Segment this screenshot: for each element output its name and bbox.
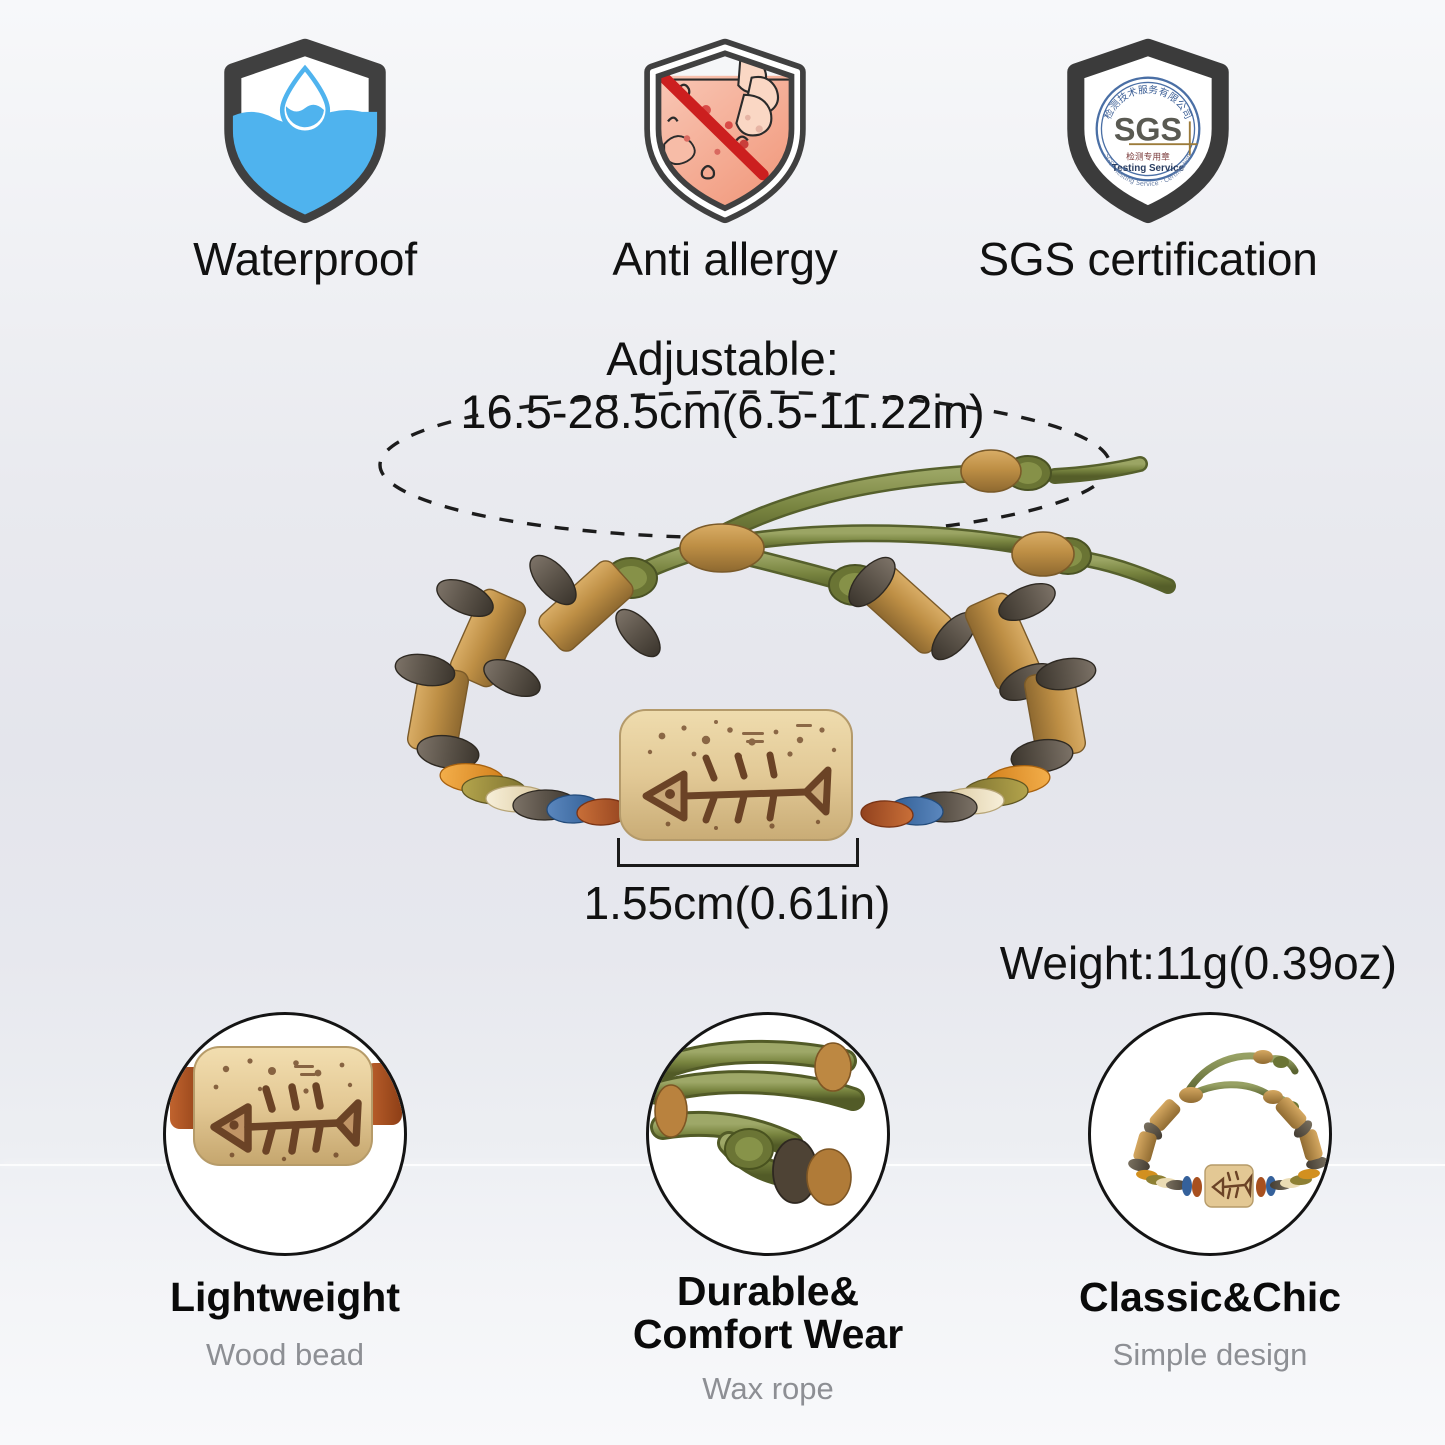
anti-allergy-shield-icon (630, 34, 820, 224)
feature-subtitle: Simple design (1000, 1337, 1420, 1373)
feature-subtitle: Wood bead (75, 1337, 495, 1373)
feature-subtitle: Wax rope (558, 1371, 978, 1407)
feature-lightweight: Lightweight Wood bead (75, 1012, 495, 1373)
badge-anti-allergy: Anti allergy (515, 34, 935, 286)
badge-label: Anti allergy (515, 232, 935, 286)
feature-image-wood-bead (163, 1012, 407, 1256)
badge-label: Waterproof (95, 232, 515, 286)
feature-title: Lightweight (75, 1276, 495, 1319)
feature-classic-chic: Classic&Chic Simple design (1000, 1012, 1420, 1373)
weight-label: Weight:11g(0.39oz) (1000, 936, 1397, 990)
adjustable-label: Adjustable: (0, 333, 1445, 386)
feature-row: Lightweight Wood bead (0, 1012, 1445, 1445)
slider-beads (680, 450, 1074, 576)
badge-waterproof: Waterproof (95, 34, 515, 286)
center-fish-bead (620, 710, 852, 840)
trust-badge-row: Waterproof (0, 34, 1445, 304)
feature-image-wax-rope (646, 1012, 890, 1256)
svg-text:SGS: SGS (1114, 111, 1182, 147)
sgs-certification-shield-icon: 检测技术服务有限公司 SGS 检测专用章 Testing Service SGS… (1053, 34, 1243, 224)
product-infographic: Waterproof (0, 0, 1445, 1445)
bead-width-bracket (617, 838, 859, 867)
feature-title: Classic&Chic (1000, 1276, 1420, 1319)
waterproof-shield-icon (210, 34, 400, 224)
feature-durable-comfort: Durable& Comfort Wear Wax rope (558, 1012, 978, 1407)
svg-text:检测专用章: 检测专用章 (1126, 150, 1170, 162)
badge-label: SGS certification (938, 232, 1358, 286)
badge-sgs: 检测技术服务有限公司 SGS 检测专用章 Testing Service SGS… (938, 34, 1358, 286)
feature-title: Durable& Comfort Wear (558, 1270, 978, 1357)
bead-size-label: 1.55cm(0.61in) (437, 876, 1037, 930)
feature-image-full-bracelet (1088, 1012, 1332, 1256)
